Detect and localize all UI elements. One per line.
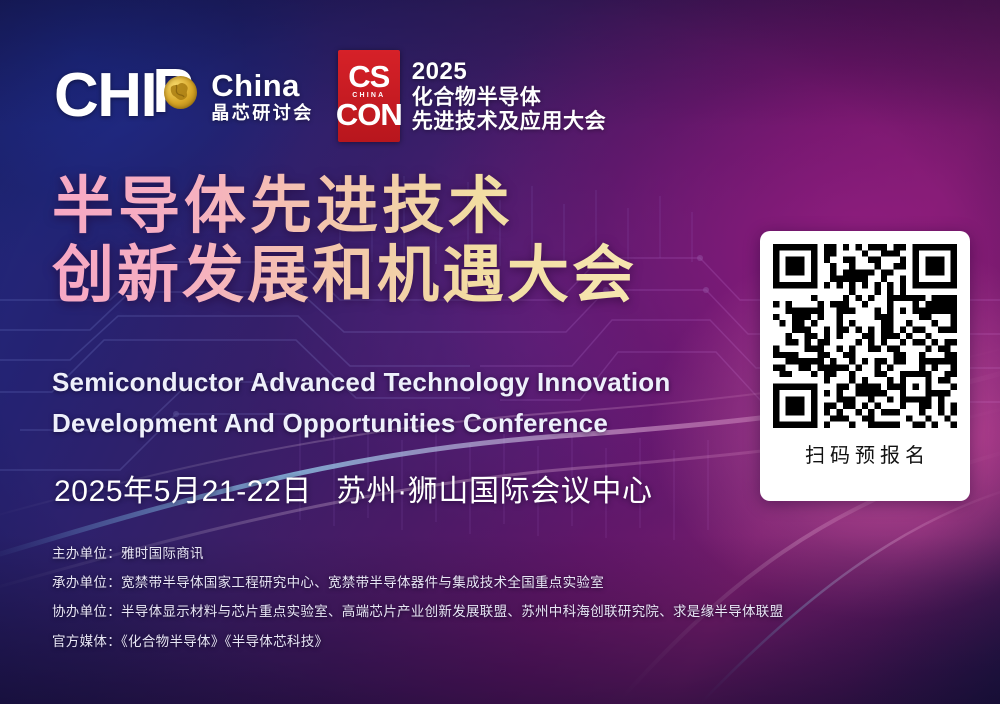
event-venue: 苏州·狮山国际会议中心 [336,466,653,510]
globe-icon-art [164,76,197,109]
event-date: 2025年5月21-22日 [54,466,312,510]
organizer-undertaker: 承办单位：宽禁带半导体国家工程研究中心、宽禁带半导体器件与集成技术全国重点实验室 [52,575,783,591]
globe-icon [164,76,197,109]
organizer-list: 主办单位：雅时国际商讯 承办单位：宽禁带半导体国家工程研究中心、宽禁带半导体器件… [52,546,783,650]
chip-china-label: China [211,70,314,101]
organizer-host: 主办单位：雅时国际商讯 [52,546,783,562]
cscon-logo-text: 2025 化合物半导体 先进技术及应用大会 [412,60,606,132]
qr-caption: 扫码预报名 [800,439,930,468]
cscon-subtitle-line2: 先进技术及应用大会 [412,111,606,132]
chip-china-logo[interactable]: CHI P China 晶芯研讨会 [54,65,314,127]
cscon-year: 2025 [412,60,606,84]
cscon-badge: CS CHINA CON [338,50,400,142]
cscon-logo[interactable]: CS CHINA CON 2025 化合物半导体 先进技术及应用大会 [338,50,606,142]
chip-wordmark: CHI P [54,65,200,127]
chip-logo-text: China 晶芯研讨会 [211,70,314,122]
title-line-1: 半导体先进技术 [52,172,637,241]
cscon-con-text: CON [336,101,402,130]
cscon-subtitle-line1: 化合物半导体 [412,87,606,108]
qr-registration-card[interactable]: 扫码预报名 [760,231,970,501]
organizer-cohost: 协办单位：半导体显示材料与芯片重点实验室、高端芯片产业创新发展联盟、苏州中科海创… [52,604,783,620]
conference-poster: CHI P China 晶芯研讨会 CS CH [0,0,1000,704]
english-subtitle: Semiconductor Advanced Technology Innova… [52,362,670,444]
subtitle-line-1: Semiconductor Advanced Technology Innova… [52,362,670,403]
organizer-media: 官方媒体：《化合物半导体》《半导体芯科技》 [52,634,783,650]
logo-row: CHI P China 晶芯研讨会 CS CH [54,50,606,142]
chip-letters: CHI [54,69,156,122]
date-venue-row: 2025年5月21-22日 苏州·狮山国际会议中心 [54,466,653,510]
qr-code-icon[interactable] [773,244,957,428]
title-line-2: 创新发展和机遇大会 [52,241,637,310]
chip-chinese-label: 晶芯研讨会 [211,104,314,122]
cscon-cs-text: CS [348,63,389,92]
page-title: 半导体先进技术 创新发展和机遇大会 [52,172,637,311]
chip-letter-p-with-globe: P [156,65,200,127]
subtitle-line-2: Development And Opportunities Conference [52,403,670,444]
